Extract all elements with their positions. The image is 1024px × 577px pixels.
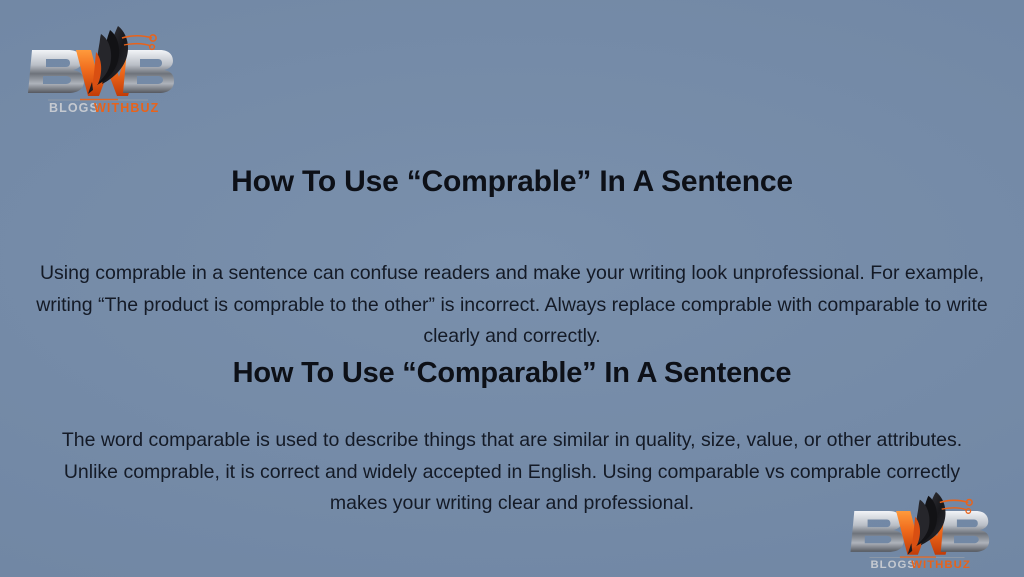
section-paragraph-comprable: Using comprable in a sentence can confus… — [32, 258, 992, 353]
logo-wordmark-withbuz: WITHBUZ — [94, 101, 159, 114]
logo-letter-b-right — [123, 50, 174, 93]
section-heading-comparable: How To Use “Comparable” In A Sentence — [0, 357, 1024, 390]
slide-canvas: BLOGS WITHBUZ How To Use “Comprable” In … — [0, 0, 1024, 577]
logo-wordmark-blogs: BLOGS — [49, 101, 99, 114]
logo-letter-b-left — [28, 50, 84, 93]
logo-wordmark-blogs: BLOGS — [870, 559, 916, 568]
brand-logo-top-left: BLOGS WITHBUZ — [22, 22, 174, 114]
section-paragraph-comparable: The word comparable is used to describe … — [58, 425, 966, 520]
logo-letter-b-right — [941, 511, 989, 552]
brand-logo-bottom-right: BLOGS WITHBUZ — [836, 492, 998, 568]
logo-wordmark-withbuz: WITHBUZ — [911, 559, 971, 568]
logo-letter-b-left — [851, 511, 904, 552]
section-heading-comprable: How To Use “Comprable” In A Sentence — [0, 165, 1024, 200]
